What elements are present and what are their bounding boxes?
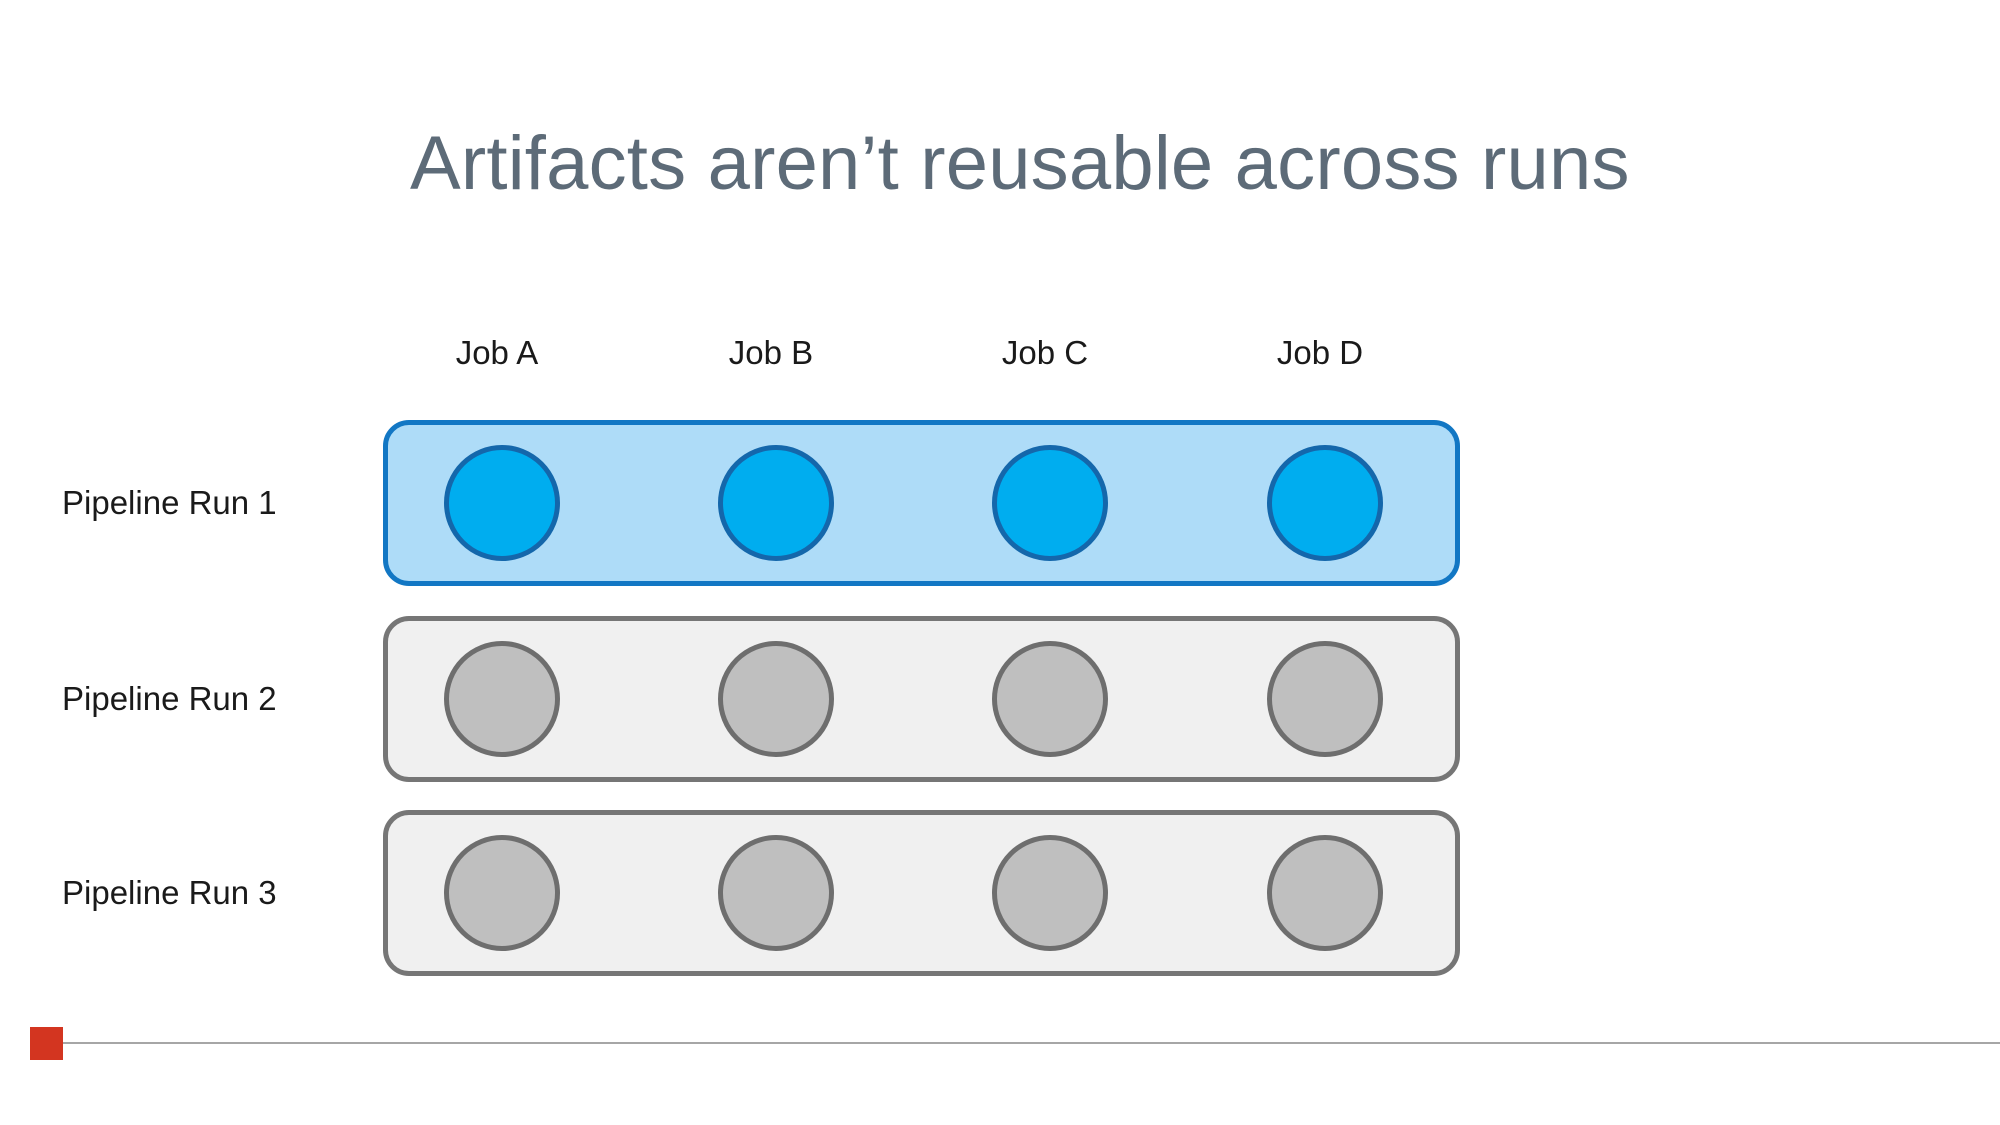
page-title: Artifacts aren’t reusable across runs	[410, 122, 1710, 206]
job-node-run1-job-c[interactable]	[992, 445, 1108, 561]
row-label-pipeline-run-2: Pipeline Run 2	[62, 680, 372, 718]
column-header-job-b: Job B	[651, 334, 891, 372]
job-node-run2-job-d[interactable]	[1267, 641, 1383, 757]
column-header-job-d: Job D	[1200, 334, 1440, 372]
row-label-pipeline-run-1: Pipeline Run 1	[62, 484, 372, 522]
job-node-run1-job-d[interactable]	[1267, 445, 1383, 561]
column-header-job-a: Job A	[377, 334, 617, 372]
footer-square-marker	[30, 1027, 63, 1060]
pipeline-run-row-1[interactable]	[383, 420, 1460, 586]
job-node-run2-job-a[interactable]	[444, 641, 560, 757]
job-node-run3-job-c[interactable]	[992, 835, 1108, 951]
job-node-run3-job-d[interactable]	[1267, 835, 1383, 951]
footer-divider	[62, 1042, 2000, 1044]
pipeline-run-row-2[interactable]	[383, 616, 1460, 782]
job-node-run2-job-b[interactable]	[718, 641, 834, 757]
job-node-run1-job-b[interactable]	[718, 445, 834, 561]
slide-canvas: Artifacts aren’t reusable across runs Jo…	[0, 0, 2000, 1125]
row-label-pipeline-run-3: Pipeline Run 3	[62, 874, 372, 912]
job-node-run3-job-a[interactable]	[444, 835, 560, 951]
job-node-run2-job-c[interactable]	[992, 641, 1108, 757]
column-header-job-c: Job C	[925, 334, 1165, 372]
pipeline-run-row-3[interactable]	[383, 810, 1460, 976]
job-node-run1-job-a[interactable]	[444, 445, 560, 561]
job-node-run3-job-b[interactable]	[718, 835, 834, 951]
